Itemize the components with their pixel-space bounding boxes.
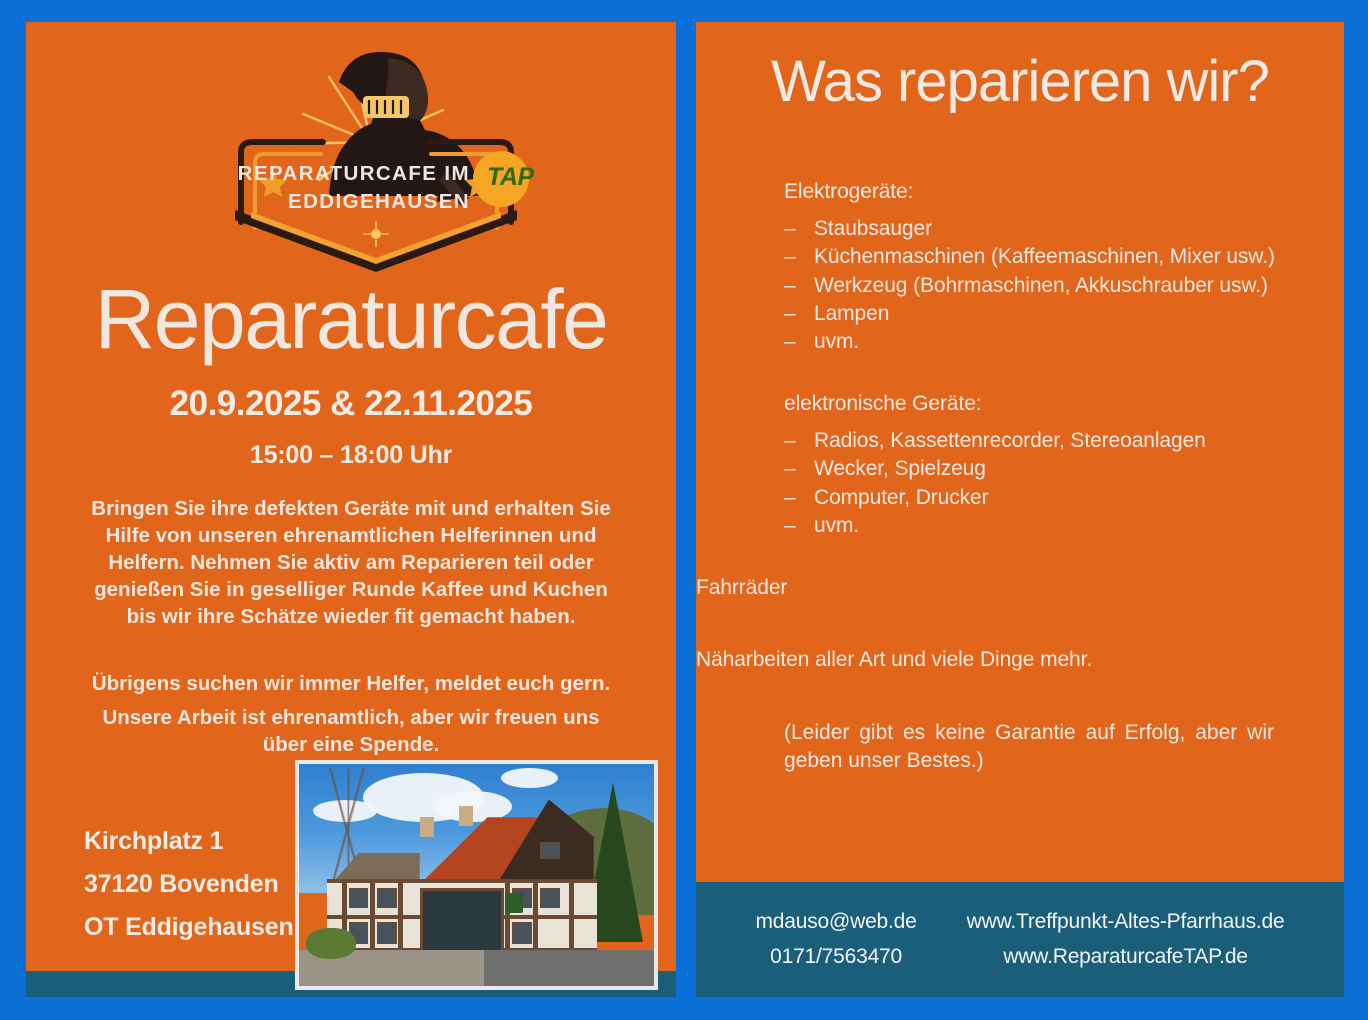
- contact-website-secondary[interactable]: www.ReparaturcafeTAP.de: [967, 940, 1285, 974]
- tap-badge: TAP: [473, 149, 535, 211]
- contact-column-web: www.Treffpunkt-Altes-Pfarrhaus.de www.Re…: [967, 905, 1285, 973]
- event-dates: 20.9.2025 & 22.11.2025: [26, 384, 676, 424]
- list-item-label: Küchenmaschinen (Kaffeemaschinen, Mixer …: [814, 245, 1275, 268]
- donation-line: Unsere Arbeit ist ehrenamtlich, aber wir…: [81, 704, 621, 758]
- list-item: –Computer, Drucker: [784, 484, 1206, 512]
- photo-shopfront: [420, 888, 504, 958]
- photo-road: [484, 950, 654, 986]
- contact-phone[interactable]: 0171/7563470: [755, 940, 916, 974]
- electronic-list: –Radios, Kassettenrecorder, Stereoanlage…: [784, 427, 1206, 540]
- venue-photo: [295, 760, 658, 990]
- list-item: –uvm.: [784, 328, 1275, 356]
- photo-bush: [306, 928, 356, 959]
- contact-email[interactable]: mdauso@web.de: [755, 905, 916, 939]
- photo-window: [349, 888, 369, 908]
- helper-wanted-line: Übrigens suchen wir immer Helfer, meldet…: [81, 670, 621, 697]
- page-title: Reparaturcafe: [26, 277, 676, 361]
- contact-column-direct: mdauso@web.de 0171/7563470: [755, 905, 916, 973]
- list-item-label: uvm.: [814, 514, 859, 537]
- list-item: –Radios, Kassettenrecorder, Stereoanlage…: [784, 427, 1206, 455]
- list-item: –Lampen: [784, 300, 1275, 328]
- list-item-label: Wecker, Spielzeug: [814, 457, 986, 480]
- bullet-dash-icon: –: [784, 427, 814, 455]
- list-item-label: Lampen: [814, 302, 889, 325]
- logo-wordmark: REPARATURCAFE IM EDDIGEHAUSEN: [26, 160, 470, 217]
- address-street: Kirchplatz 1: [84, 820, 294, 863]
- intro-paragraph: Bringen Sie ihre defekten Geräte mit und…: [81, 495, 621, 630]
- list-item-label: Computer, Drucker: [814, 486, 989, 509]
- photo-timber-beam: [533, 879, 538, 952]
- category-sewing: Näharbeiten aller Art und viele Dinge me…: [696, 648, 1092, 672]
- category-heading-electro: Elektrogeräte:: [784, 180, 913, 204]
- logo-block: REPARATURCAFE IM EDDIGEHAUSEN TAP: [26, 22, 676, 267]
- photo-hanging-sign: [505, 893, 523, 913]
- tap-label: TAP: [487, 163, 534, 192]
- bullet-dash-icon: –: [784, 243, 814, 271]
- photo-window: [377, 888, 397, 908]
- list-item-label: uvm.: [814, 330, 859, 353]
- bullet-dash-icon: –: [784, 215, 814, 243]
- welder-illustration: [211, 22, 541, 272]
- photo-chimney: [420, 817, 434, 837]
- photo-timber-beam: [569, 879, 574, 952]
- list-item: –Staubsauger: [784, 215, 1275, 243]
- address-city: 37120 Bovenden: [84, 863, 294, 906]
- contact-footer: mdauso@web.de 0171/7563470 www.Treffpunk…: [696, 882, 1344, 997]
- electro-list: –Staubsauger –Küchenmaschinen (Kaffeemas…: [784, 215, 1275, 356]
- photo-chimney: [459, 806, 473, 826]
- photo-timber-beam: [327, 879, 597, 883]
- category-bikes: Fahrräder: [696, 576, 787, 600]
- logo-wordmark-line1: REPARATURCAFE IM: [26, 160, 470, 188]
- list-item: –Küchenmaschinen (Kaffeemaschinen, Mixer…: [784, 243, 1275, 271]
- address-block: Kirchplatz 1 37120 Bovenden OT Eddigehau…: [84, 820, 294, 949]
- bullet-dash-icon: –: [784, 300, 814, 328]
- address-district: OT Eddigehausen: [84, 906, 294, 949]
- list-item: –uvm.: [784, 512, 1206, 540]
- list-item: –Werkzeug (Bohrmaschinen, Akkuschrauber …: [784, 272, 1275, 300]
- photo-window: [540, 888, 560, 908]
- guarantee-disclaimer: (Leider gibt es keine Garantie auf Erfol…: [784, 719, 1274, 776]
- list-item-label: Radios, Kassettenrecorder, Stereoanlagen: [814, 429, 1206, 452]
- bullet-dash-icon: –: [784, 272, 814, 300]
- list-item: –Wecker, Spielzeug: [784, 455, 1206, 483]
- bullet-dash-icon: –: [784, 328, 814, 356]
- list-item-label: Werkzeug (Bohrmaschinen, Akkuschrauber u…: [814, 274, 1268, 297]
- bullet-dash-icon: –: [784, 512, 814, 540]
- photo-cloud: [434, 791, 512, 822]
- logo-wordmark-line2: EDDIGEHAUSEN: [26, 188, 470, 216]
- photo-timber-beam: [398, 879, 403, 952]
- right-poster-panel: Was reparieren wir? Elektrogeräte: –Stau…: [696, 22, 1344, 997]
- contact-website-primary[interactable]: www.Treffpunkt-Altes-Pfarrhaus.de: [967, 905, 1285, 939]
- bullet-dash-icon: –: [784, 455, 814, 483]
- left-poster-panel: REPARATURCAFE IM EDDIGEHAUSEN TAP Repara…: [26, 22, 676, 997]
- event-time: 15:00 – 18:00 Uhr: [26, 441, 676, 470]
- photo-timber-beam: [505, 879, 510, 952]
- bullet-dash-icon: –: [784, 484, 814, 512]
- photo-window: [512, 922, 532, 944]
- photo-window: [377, 922, 397, 944]
- photo-timber-beam: [370, 879, 375, 952]
- photo-window: [540, 842, 560, 860]
- category-heading-electronic: elektronische Geräte:: [784, 392, 982, 416]
- list-item-label: Staubsauger: [814, 217, 932, 240]
- services-heading: Was reparieren wir?: [696, 48, 1344, 115]
